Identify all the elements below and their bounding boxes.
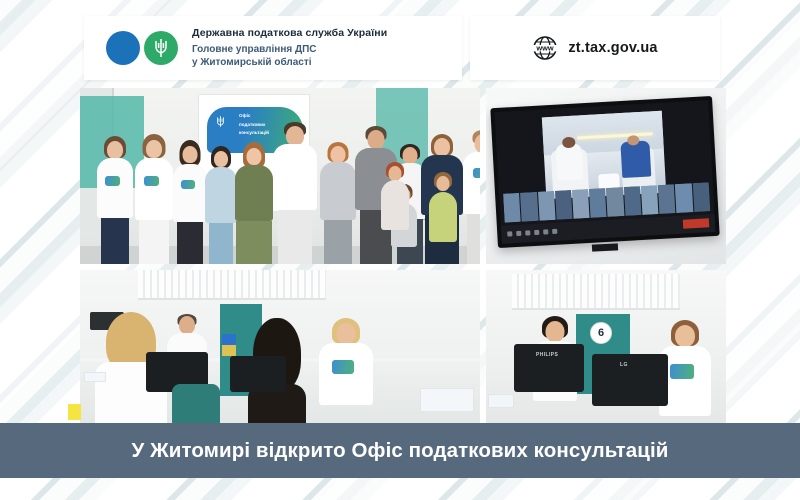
speaker-man-head bbox=[627, 135, 639, 145]
toolbar-icon bbox=[525, 231, 530, 236]
person-figure bbox=[462, 128, 480, 264]
banner-text: Офіс податкових консультацій bbox=[239, 112, 269, 138]
participant-thumbnail bbox=[641, 185, 659, 215]
person-figure bbox=[204, 142, 238, 264]
leave-meeting-button bbox=[683, 219, 709, 229]
header: Державна податкова служба України Головн… bbox=[84, 16, 720, 80]
participant-thumbnail bbox=[692, 182, 710, 212]
globe-www-label: www bbox=[536, 44, 554, 53]
window-blinds bbox=[138, 270, 326, 300]
brand-title-line3: у Житомирській області bbox=[192, 56, 387, 69]
brand-title-line1: Державна податкова служба України bbox=[192, 27, 387, 40]
toolbar-icon bbox=[534, 230, 539, 235]
consultants-photo: 6 PHILIPS LG bbox=[486, 270, 726, 426]
logo-blue-circle-icon bbox=[106, 31, 140, 65]
person-figure bbox=[134, 134, 174, 264]
office-chair bbox=[172, 384, 220, 426]
brand-card: Державна податкова служба України Головн… bbox=[84, 16, 462, 80]
speaker-man-body bbox=[620, 141, 651, 179]
group-photo: Офіс податкових консультацій bbox=[80, 88, 480, 264]
participant-thumbnail bbox=[658, 184, 676, 214]
person-figure bbox=[172, 138, 208, 264]
participant-thumbnail bbox=[555, 190, 573, 220]
yellow-accent-square bbox=[68, 404, 81, 420]
window-blinds bbox=[512, 274, 680, 310]
person-figure bbox=[428, 172, 458, 264]
participant-thumbnail bbox=[675, 183, 693, 213]
dps-logo bbox=[106, 31, 178, 65]
logo-green-circle-icon bbox=[144, 31, 178, 65]
documents-on-desk bbox=[420, 388, 474, 412]
participant-thumbnail bbox=[538, 191, 556, 221]
service-desks-photo bbox=[80, 270, 480, 426]
banner-line-1: Офіс bbox=[239, 112, 269, 121]
divider-flag-graphic bbox=[222, 334, 236, 356]
participant-thumbnail bbox=[572, 189, 590, 219]
website-url-card[interactable]: www zt.tax.gov.ua bbox=[470, 16, 720, 80]
caption-bar: У Житомирі відкрито Офіс податкових конс… bbox=[0, 423, 800, 478]
desk-number-badge: 6 bbox=[590, 322, 612, 344]
speaker-woman-body bbox=[555, 143, 583, 180]
monitor-shape bbox=[230, 356, 286, 392]
person-figure bbox=[318, 318, 374, 406]
participant-thumbnail bbox=[503, 193, 521, 223]
person-figure bbox=[272, 122, 318, 264]
participant-thumbnail bbox=[589, 188, 607, 218]
monitor-shape bbox=[592, 354, 668, 406]
ukraine-trident-emblem-icon bbox=[153, 38, 169, 58]
brand-title-line2: Головне управління ДПС bbox=[192, 43, 387, 56]
tv-frame bbox=[490, 96, 719, 248]
person-figure bbox=[96, 136, 134, 264]
photo-collage: Офіс податкових консультацій bbox=[80, 88, 720, 420]
website-url-text: zt.tax.gov.ua bbox=[568, 40, 657, 56]
monitor-brand-lg: LG bbox=[620, 362, 628, 368]
person-figure bbox=[380, 156, 410, 264]
participant-thumbnail bbox=[606, 187, 624, 217]
toolbar-icon bbox=[552, 229, 557, 234]
tv-screen bbox=[494, 100, 715, 244]
participant-thumbnail bbox=[520, 192, 538, 222]
tv-video-conference-photo bbox=[486, 88, 726, 264]
tv-stand bbox=[591, 243, 617, 251]
documents-on-desk bbox=[488, 394, 514, 408]
globe-www-icon: www bbox=[532, 35, 558, 61]
toolbar-icon bbox=[507, 232, 512, 237]
caption-headline: У Житомирі відкрито Офіс податкових конс… bbox=[132, 439, 669, 463]
toolbar-icon bbox=[543, 230, 548, 235]
participant-thumbnail bbox=[624, 186, 642, 216]
person-figure bbox=[318, 134, 358, 264]
person-figure bbox=[234, 136, 274, 264]
banner-line-2: податкових bbox=[239, 121, 269, 130]
toolbar-icon bbox=[516, 231, 521, 236]
banner-trident-icon bbox=[216, 115, 225, 128]
monitor-brand-philips: PHILIPS bbox=[536, 352, 558, 358]
documents-on-desk bbox=[84, 372, 106, 382]
brand-text: Державна податкова служба України Головн… bbox=[192, 27, 387, 68]
